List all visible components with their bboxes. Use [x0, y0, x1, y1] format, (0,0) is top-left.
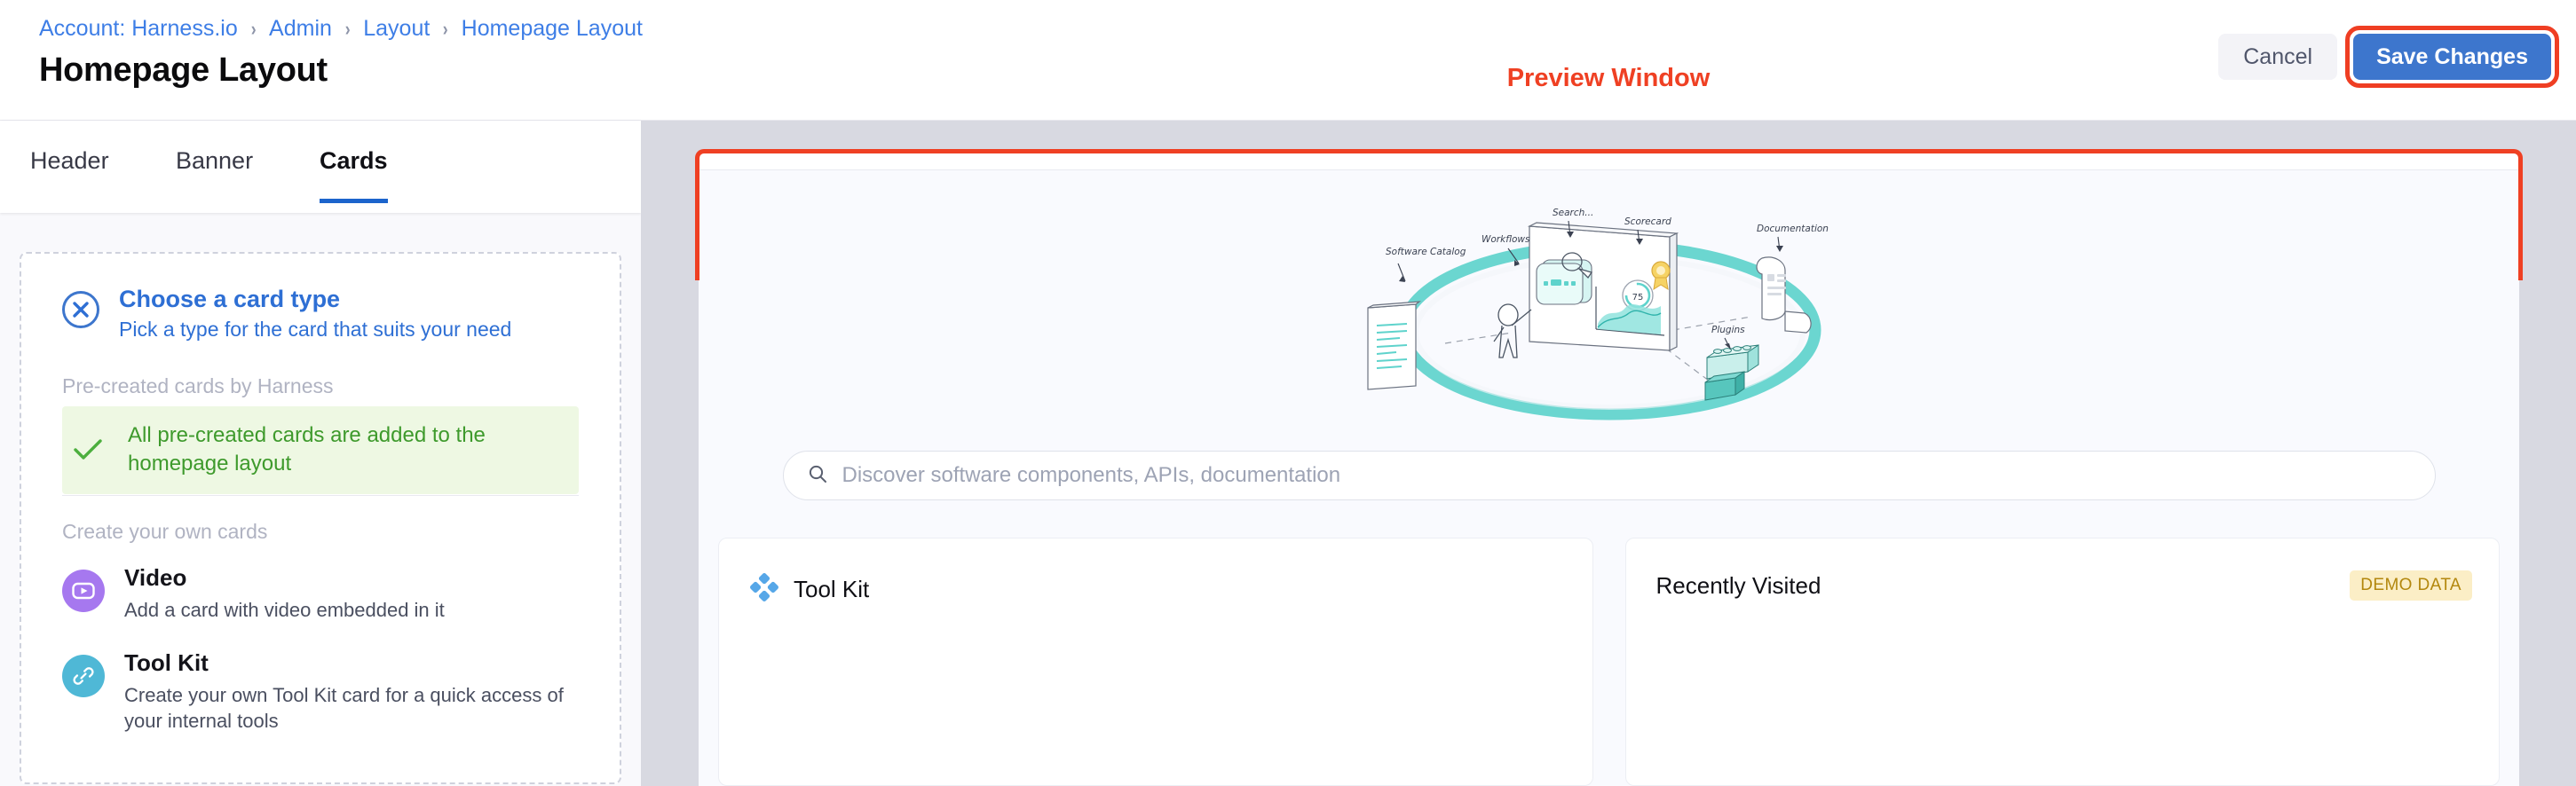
illustration-label-search: Search...	[1553, 208, 1593, 218]
card-type-option-video-text: Video Add a card with video embedded in …	[124, 564, 445, 623]
video-play-icon	[62, 570, 105, 612]
preview-search-row: Discover software components, APIs, docu…	[699, 451, 2519, 500]
hero-illustration: Software Catalog	[699, 170, 2519, 445]
status-badge-demo-data: DEMO DATA	[2350, 570, 2472, 601]
preview-stage: Preview Window	[641, 121, 2576, 786]
breadcrumb-separator-icon: ›	[250, 18, 256, 41]
card-picker-subtitle: Pick a type for the card that suits your…	[119, 318, 511, 342]
preview-cards-row: Tool Kit Recently Visited DEMO DATA	[699, 538, 2519, 786]
page-title: Homepage Layout	[39, 51, 328, 90]
homepage-preview-panel: Software Catalog	[699, 153, 2519, 786]
tab-header[interactable]: Header	[30, 147, 109, 199]
card-type-option-video[interactable]: Video Add a card with video embedded in …	[62, 564, 445, 623]
card-picker-header-text: Choose a card type Pick a type for the c…	[119, 286, 511, 342]
section-divider	[62, 495, 579, 496]
illustration-label-software-catalog: Software Catalog	[1386, 247, 1466, 257]
card-type-option-toolkit[interactable]: Tool Kit Create your own Tool Kit card f…	[62, 649, 595, 734]
card-picker-title: Choose a card type	[119, 286, 511, 314]
preview-card-recently-visited-title: Recently Visited	[1656, 572, 1821, 600]
tab-cards[interactable]: Cards	[320, 147, 388, 203]
top-bar: Account: Harness.io › Admin › Layout › H…	[0, 0, 2576, 121]
card-type-option-toolkit-desc: Create your own Tool Kit card for a quic…	[124, 682, 595, 734]
preview-card-toolkit[interactable]: Tool Kit	[718, 538, 1593, 786]
precreated-section-label: Pre-created cards by Harness	[62, 374, 334, 398]
breadcrumb-item-account[interactable]: Account: Harness.io	[39, 16, 238, 42]
breadcrumb-item-admin[interactable]: Admin	[269, 16, 332, 42]
breadcrumb-separator-icon: ›	[443, 18, 448, 41]
breadcrumb-item-layout[interactable]: Layout	[363, 16, 430, 42]
toolkit-diamond-icon	[749, 572, 779, 607]
link-chain-icon	[62, 655, 105, 697]
illustration-label-documentation: Documentation	[1757, 224, 1829, 234]
card-type-option-toolkit-name: Tool Kit	[124, 649, 595, 677]
search-input[interactable]: Discover software components, APIs, docu…	[783, 451, 2436, 500]
idp-hero-svg: Software Catalog	[1334, 175, 1885, 441]
search-icon	[807, 463, 828, 489]
breadcrumb-separator-icon: ›	[345, 18, 351, 41]
check-icon	[62, 438, 114, 461]
precreated-success-text: All pre-created cards are added to the h…	[128, 421, 545, 479]
card-type-option-toolkit-text: Tool Kit Create your own Tool Kit card f…	[124, 649, 595, 734]
preview-card-toolkit-header: Tool Kit	[749, 572, 869, 607]
tab-banner[interactable]: Banner	[176, 147, 253, 199]
left-config-panel: Header Banner Cards Choose a card type P…	[0, 121, 641, 786]
preview-top-strip	[699, 153, 2519, 170]
preview-window-annotation-label: Preview Window	[641, 66, 2576, 91]
card-type-option-video-name: Video	[124, 564, 445, 592]
search-input-placeholder: Discover software components, APIs, docu…	[842, 463, 1341, 488]
card-type-option-video-desc: Add a card with video embedded in it	[124, 597, 445, 623]
preview-card-recently-visited[interactable]: Recently Visited DEMO DATA	[1625, 538, 2501, 786]
own-cards-section-label: Create your own cards	[62, 520, 267, 544]
preview-card-toolkit-title: Tool Kit	[794, 576, 869, 603]
illustration-label-plugins: Plugins	[1711, 325, 1745, 335]
scorecard-value: 75	[1632, 293, 1643, 303]
card-type-picker: Choose a card type Pick a type for the c…	[20, 252, 621, 784]
illustration-label-scorecard: Scorecard	[1624, 216, 1671, 227]
precreated-success-banner: All pre-created cards are added to the h…	[62, 406, 579, 494]
illustration-label-workflows: Workflows	[1482, 234, 1530, 245]
breadcrumb-item-homepage-layout[interactable]: Homepage Layout	[462, 16, 643, 42]
preview-card-recently-visited-header: Recently Visited	[1656, 572, 1821, 600]
close-icon[interactable]	[62, 291, 99, 328]
card-picker-header: Choose a card type Pick a type for the c…	[62, 286, 511, 342]
tab-bar: Header Banner Cards	[0, 121, 641, 213]
breadcrumb: Account: Harness.io › Admin › Layout › H…	[39, 16, 643, 42]
